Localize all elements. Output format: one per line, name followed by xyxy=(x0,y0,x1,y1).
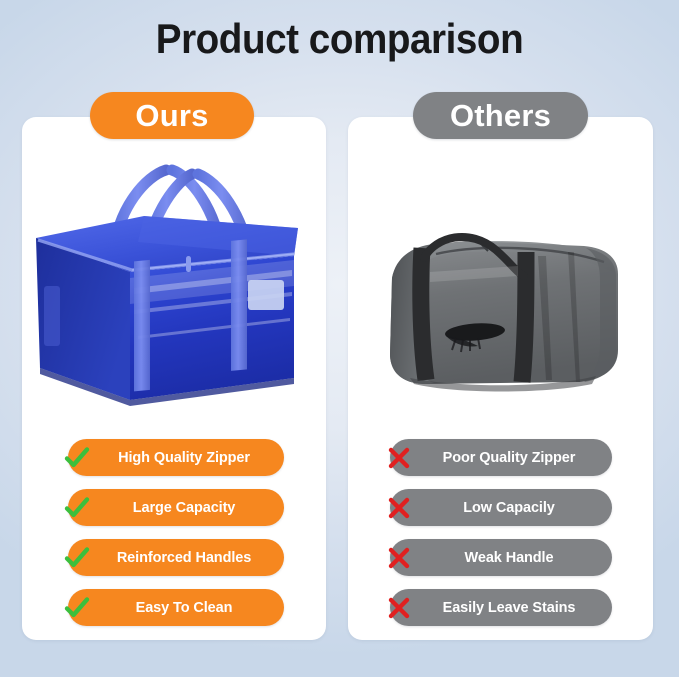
feature-label: Large Capacity xyxy=(68,500,284,516)
feature-label: Reinforced Handles xyxy=(68,550,284,566)
badge-ours-label: Ours xyxy=(135,98,208,134)
feature-label: Low Capacily xyxy=(390,500,612,516)
feature-pill-ours-1[interactable]: High Quality Zipper xyxy=(68,439,284,476)
comparison-page: Product comparison Ours xyxy=(0,0,679,677)
badge-ours: Ours xyxy=(90,92,254,139)
feature-pill-others-3[interactable]: Weak Handle xyxy=(390,539,612,576)
cross-icon xyxy=(384,593,414,623)
cross-icon xyxy=(384,493,414,523)
feature-pill-others-1[interactable]: Poor Quality Zipper xyxy=(390,439,612,476)
check-icon xyxy=(62,443,92,473)
cross-icon xyxy=(384,543,414,573)
feature-pill-ours-3[interactable]: Reinforced Handles xyxy=(68,539,284,576)
feature-label: Easily Leave Stains xyxy=(390,600,612,616)
feature-label: Weak Handle xyxy=(390,550,612,566)
check-icon xyxy=(62,493,92,523)
feature-label: Easy To Clean xyxy=(68,600,284,616)
page-title: Product comparison xyxy=(27,10,652,68)
feature-label: Poor Quality Zipper xyxy=(390,450,612,466)
feature-list-others: Poor Quality Zipper Low Capacily Weak Ha… xyxy=(390,439,612,626)
check-icon xyxy=(62,543,92,573)
feature-pill-others-4[interactable]: Easily Leave Stains xyxy=(390,589,612,626)
badge-others-label: Others xyxy=(450,98,551,134)
badge-others: Others xyxy=(413,92,588,139)
feature-pill-ours-4[interactable]: Easy To Clean xyxy=(68,589,284,626)
feature-pill-ours-2[interactable]: Large Capacity xyxy=(68,489,284,526)
product-image-ours xyxy=(26,160,322,422)
feature-list-ours: High Quality Zipper Large Capacity Reinf… xyxy=(68,439,284,626)
cross-icon xyxy=(384,443,414,473)
product-image-others xyxy=(370,232,632,404)
check-icon xyxy=(62,593,92,623)
feature-pill-others-2[interactable]: Low Capacily xyxy=(390,489,612,526)
feature-label: High Quality Zipper xyxy=(68,450,284,466)
